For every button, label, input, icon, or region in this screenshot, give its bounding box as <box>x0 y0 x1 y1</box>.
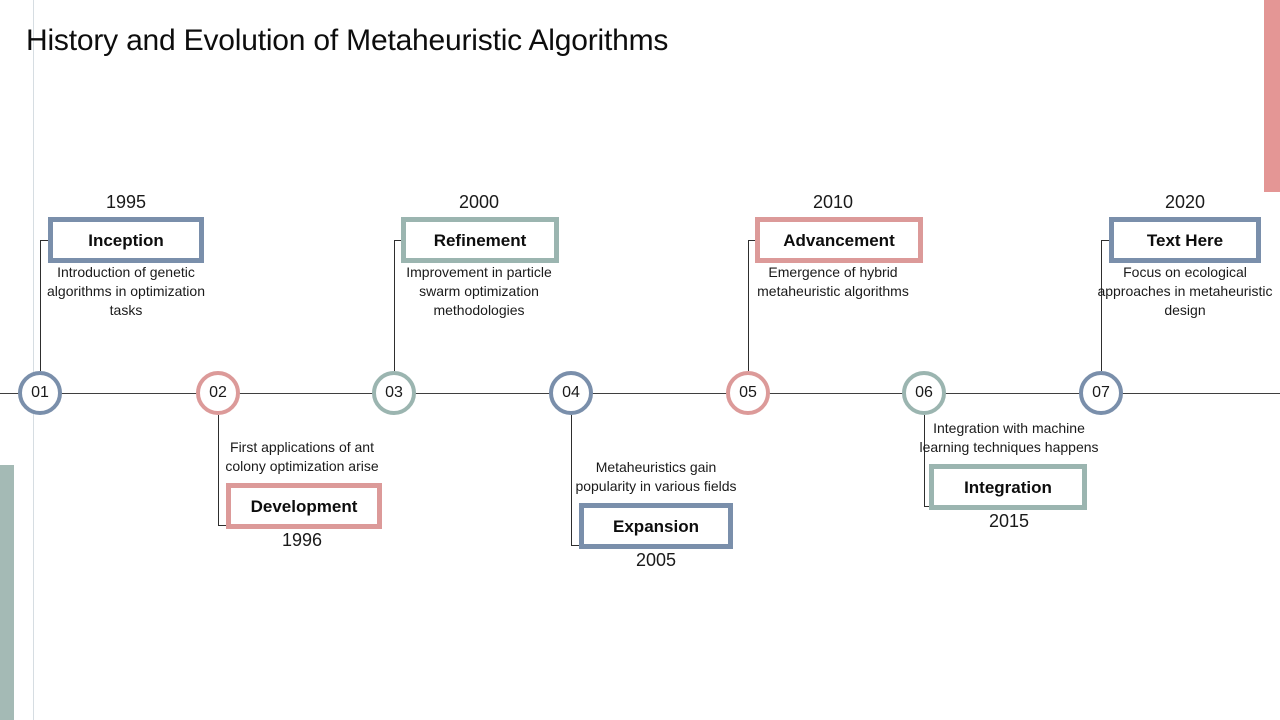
milestone-description-04: Metaheuristics gain popularity in variou… <box>566 458 746 496</box>
milestone-group-06: Integration with machine learning techni… <box>919 419 1099 532</box>
milestone-box-03[interactable]: Refinement <box>401 217 559 263</box>
decorative-bar-left <box>0 465 14 720</box>
milestone-heading-07: Text Here <box>1147 232 1223 249</box>
milestone-description-01: Introduction of genetic algorithms in op… <box>36 263 216 320</box>
milestone-heading-03: Refinement <box>434 232 527 249</box>
milestone-group-02: First applications of ant colony optimiz… <box>212 438 392 551</box>
timeline-node-label-07: 07 <box>1092 385 1110 401</box>
timeline-node-04[interactable]: 04 <box>549 371 593 415</box>
slide-canvas: History and Evolution of Metaheuristic A… <box>0 0 1280 720</box>
timeline-node-03[interactable]: 03 <box>372 371 416 415</box>
milestone-description-05: Emergence of hybrid metaheuristic algori… <box>743 263 923 301</box>
milestone-heading-01: Inception <box>88 232 164 249</box>
milestone-heading-02: Development <box>251 498 358 515</box>
milestone-heading-05: Advancement <box>783 232 894 249</box>
milestone-year-01: 1995 <box>36 191 216 213</box>
milestone-box-02[interactable]: Development <box>226 483 382 529</box>
milestone-heading-06: Integration <box>964 479 1052 496</box>
milestone-box-07[interactable]: Text Here <box>1109 217 1261 263</box>
page-title: History and Evolution of Metaheuristic A… <box>26 24 668 58</box>
milestone-year-04: 2005 <box>566 549 746 571</box>
timeline-node-07[interactable]: 07 <box>1079 371 1123 415</box>
timeline-node-01[interactable]: 01 <box>18 371 62 415</box>
milestone-box-05[interactable]: Advancement <box>755 217 923 263</box>
milestone-group-01: 1995InceptionIntroduction of genetic alg… <box>36 191 216 320</box>
milestone-box-06[interactable]: Integration <box>929 464 1087 510</box>
timeline-node-label-02: 02 <box>209 385 227 401</box>
timeline-node-label-04: 04 <box>562 385 580 401</box>
milestone-group-07: 2020Text HereFocus on ecological approac… <box>1095 191 1275 320</box>
milestone-group-05: 2010AdvancementEmergence of hybrid metah… <box>743 191 923 301</box>
timeline-node-label-03: 03 <box>385 385 403 401</box>
milestone-description-02: First applications of ant colony optimiz… <box>212 438 392 476</box>
decorative-vertical-rule <box>33 0 34 720</box>
timeline-node-label-06: 06 <box>915 385 933 401</box>
milestone-description-06: Integration with machine learning techni… <box>919 419 1099 457</box>
milestone-description-03: Improvement in particle swarm optimizati… <box>389 263 569 320</box>
milestone-year-06: 2015 <box>919 510 1099 532</box>
timeline-node-label-05: 05 <box>739 385 757 401</box>
milestone-year-02: 1996 <box>212 529 392 551</box>
milestone-description-07: Focus on ecological approaches in metahe… <box>1095 263 1275 320</box>
milestone-group-03: 2000RefinementImprovement in particle sw… <box>389 191 569 320</box>
timeline-node-05[interactable]: 05 <box>726 371 770 415</box>
decorative-bar-right <box>1264 0 1280 192</box>
milestone-box-01[interactable]: Inception <box>48 217 204 263</box>
milestone-year-03: 2000 <box>389 191 569 213</box>
timeline-node-06[interactable]: 06 <box>902 371 946 415</box>
milestone-year-05: 2010 <box>743 191 923 213</box>
timeline-node-02[interactable]: 02 <box>196 371 240 415</box>
timeline-node-label-01: 01 <box>31 385 49 401</box>
milestone-box-04[interactable]: Expansion <box>579 503 733 549</box>
milestone-heading-04: Expansion <box>613 518 699 535</box>
milestone-year-07: 2020 <box>1095 191 1275 213</box>
milestone-group-04: Metaheuristics gain popularity in variou… <box>566 458 746 571</box>
